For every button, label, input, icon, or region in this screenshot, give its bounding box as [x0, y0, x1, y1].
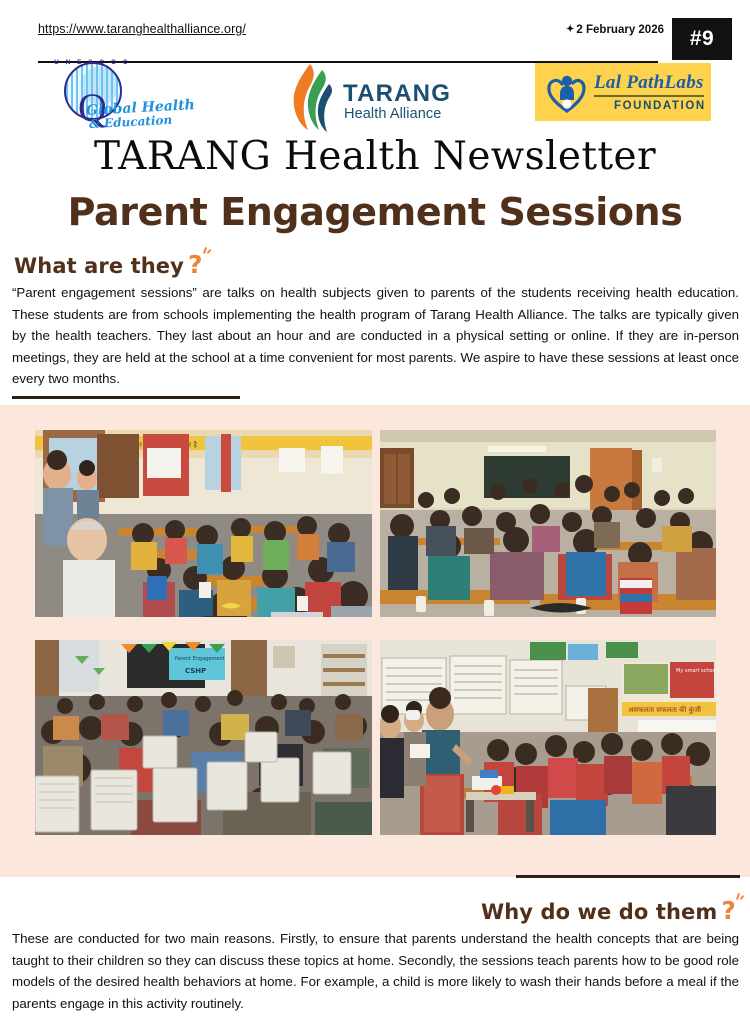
unesco-line2: & Education: [89, 113, 173, 131]
tarang-tagline: Health Alliance: [344, 106, 441, 122]
section-body-what-are-they: “Parent engagement sessions” are talks o…: [12, 282, 739, 390]
photo-audience-from-behind: Parent Engagement CSHP: [35, 640, 372, 835]
photo-classroom-facilitators: स्वस्थ रहना हर किसी का अधिकार है: [35, 430, 372, 617]
section-heading-why-do-we-do-them: Why do we do them?: [481, 896, 736, 925]
svg-text:Parent Engagement: Parent Engagement: [175, 656, 225, 662]
lal-pathlabs-wordmark: Lal PathLabs: [594, 72, 704, 97]
sparkle-icon: [202, 247, 212, 259]
lal-pathlabs-logo: Lal PathLabs FOUNDATION: [536, 64, 710, 120]
heart-person-icon: [546, 72, 588, 114]
flame-icon: [288, 62, 336, 132]
gallery-bottom-rule: [516, 875, 740, 878]
svg-text:My smart school: My smart school: [676, 668, 716, 674]
lal-pathlabs-subtitle: FOUNDATION: [614, 100, 706, 112]
sparkle-icon: [735, 893, 745, 905]
gallery-photo-4: My smart school असफलता सफलता की कुंजी: [380, 640, 716, 835]
tarang-logo: TARANG Health Alliance: [288, 60, 468, 136]
newsletter-subtitle: Parent Engagement Sessions: [0, 190, 750, 234]
newsletter-title: TARANG Health Newsletter: [0, 134, 750, 179]
photo-facilitator-with-mothers: My smart school असफलता सफलता की कुंजी: [380, 640, 716, 835]
gallery-photo-3: Parent Engagement CSHP: [35, 640, 372, 835]
site-url-link[interactable]: https://www.taranghealthalliance.org/: [38, 22, 246, 36]
question-mark-icon: ?: [188, 250, 203, 279]
unesco-chair-logo: U N E S C O C H A I R Q Global Health & …: [34, 58, 184, 136]
section-heading-what-are-they: What are they?: [14, 250, 203, 279]
gallery-top-rule: [12, 396, 240, 399]
date-star-icon: ✦: [566, 24, 574, 35]
gallery-photo-1: स्वस्थ रहना हर किसी का अधिकार है: [35, 430, 372, 617]
tarang-wordmark: TARANG: [343, 80, 451, 108]
svg-text:CSHP: CSHP: [185, 667, 206, 675]
section-heading-text: Why do we do them: [481, 900, 717, 924]
section-heading-text: What are they: [14, 254, 184, 278]
gallery-photo-2: [380, 430, 716, 617]
logo-row: U N E S C O C H A I R Q Global Health & …: [0, 58, 750, 136]
issue-date: ✦2 February 2026: [560, 24, 668, 36]
issue-date-text: 2 February 2026: [576, 24, 664, 36]
svg-text:असफलता सफलता की कुंजी: असफलता सफलता की कुंजी: [628, 705, 701, 714]
issue-number-badge: #9: [672, 18, 732, 60]
section-body-why-do-we-do-them: These are conducted for two main reasons…: [12, 928, 739, 1014]
photo-parents-group: [380, 430, 716, 617]
question-mark-icon: ?: [721, 896, 736, 925]
newsletter-page: https://www.taranghealthalliance.org/ ✦2…: [0, 0, 750, 1017]
